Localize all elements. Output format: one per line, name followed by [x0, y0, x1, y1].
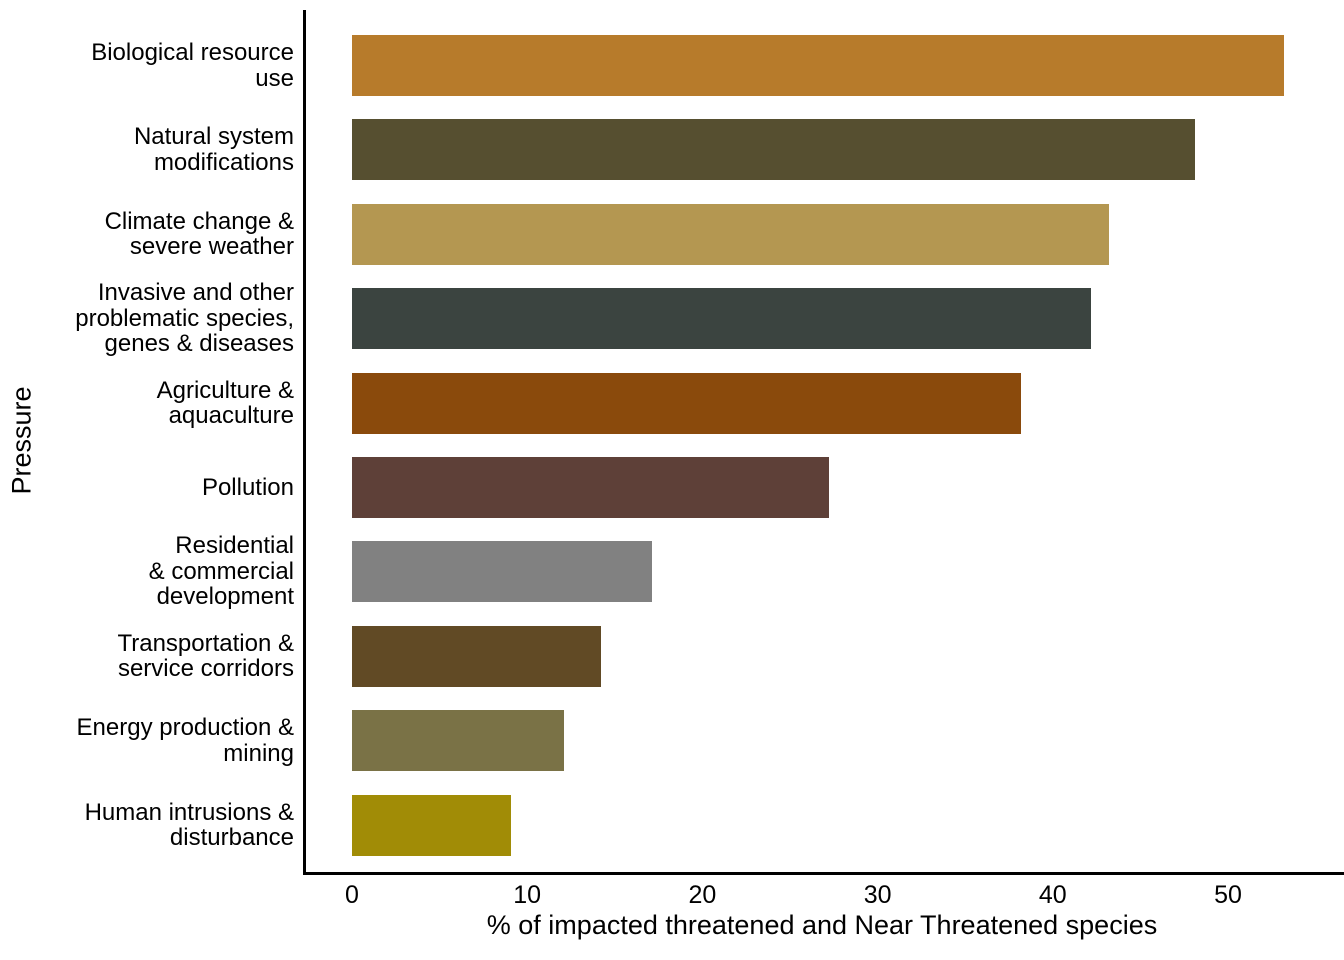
bar [352, 457, 829, 518]
x-axis-line [303, 872, 1344, 875]
y-axis-tick-label: Human intrusions & disturbance [44, 800, 294, 851]
x-axis-tick-label: 10 [513, 883, 541, 908]
y-axis-line [303, 10, 306, 875]
y-axis-tick-label: Agriculture & aquaculture [44, 378, 294, 429]
bar [352, 795, 511, 856]
bar [352, 541, 652, 602]
y-axis-tick-label: Natural system modifications [44, 124, 294, 175]
bar [352, 288, 1091, 349]
bar [352, 710, 564, 771]
y-axis-tick-label: Climate change & severe weather [44, 209, 294, 260]
x-axis-tick-label: 40 [1039, 883, 1067, 908]
x-axis-tick-label: 20 [688, 883, 716, 908]
y-axis-tick-label: Residential & commercial development [44, 533, 294, 610]
x-axis-tick-label: 0 [345, 883, 359, 908]
bar [352, 626, 601, 687]
bar [352, 373, 1021, 434]
y-axis-tick-label: Biological resource use [44, 40, 294, 91]
y-axis-title: Pressure [0, 0, 44, 880]
plot-area: 01020304050 [303, 10, 1344, 875]
bar [352, 204, 1109, 265]
bar [352, 35, 1284, 96]
y-axis-tick-label: Invasive and other problematic species, … [44, 280, 294, 357]
x-axis-tick-label: 30 [864, 883, 892, 908]
y-axis-title-text: Pressure [9, 386, 36, 494]
x-axis-tick-label: 50 [1214, 883, 1242, 908]
bar [352, 119, 1195, 180]
y-axis-tick-label: Pollution [44, 475, 294, 501]
y-axis-tick-label: Transportation & service corridors [44, 631, 294, 682]
y-axis-tick-labels: Biological resource useNatural system mo… [44, 10, 294, 875]
y-axis-tick-label: Energy production & mining [44, 715, 294, 766]
bar-chart-figure: Pressure Biological resource useNatural … [0, 0, 1344, 960]
x-axis-title: % of impacted threatened and Near Threat… [300, 912, 1344, 939]
